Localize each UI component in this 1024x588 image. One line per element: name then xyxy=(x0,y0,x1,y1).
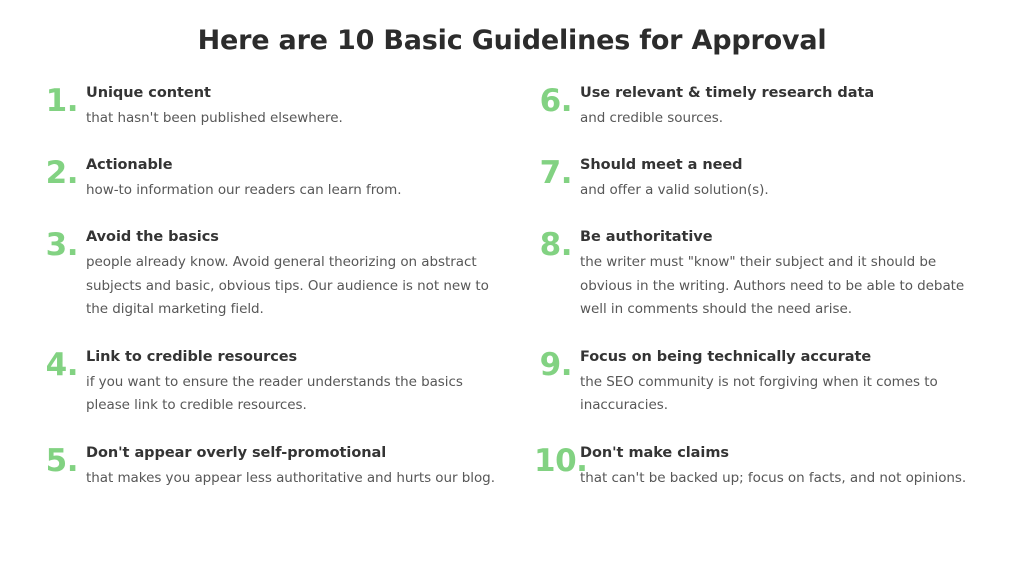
guideline-heading-8: Be authoritative xyxy=(580,228,984,247)
guideline-heading-2: Actionable xyxy=(86,156,510,175)
guideline-number-8: 8. xyxy=(534,230,580,261)
guideline-number-10: 10. xyxy=(534,446,580,477)
guidelines-columns: 1. Unique content that hasn't been publi… xyxy=(0,84,1024,490)
guideline-item-5: 5. Don't appear overly self-promotional … xyxy=(40,444,510,491)
guideline-body-2: Actionable how-to information our reader… xyxy=(86,156,510,203)
guideline-item-4: 4. Link to credible resources if you wan… xyxy=(40,348,510,418)
guideline-description-2: how-to information our readers can learn… xyxy=(86,179,510,203)
guideline-body-3: Avoid the basics people already know. Av… xyxy=(86,228,510,322)
guideline-body-5: Don't appear overly self-promotional tha… xyxy=(86,444,510,491)
guideline-number-9: 9. xyxy=(534,350,580,381)
guideline-heading-5: Don't appear overly self-promotional xyxy=(86,444,510,463)
guideline-body-1: Unique content that hasn't been publishe… xyxy=(86,84,510,131)
guideline-number-4: 4. xyxy=(40,350,86,381)
guideline-description-7: and offer a valid solution(s). xyxy=(580,179,984,203)
page-title: Here are 10 Basic Guidelines for Approva… xyxy=(0,0,1024,58)
guidelines-column-right: 6. Use relevant & timely research data a… xyxy=(510,84,984,490)
guideline-description-1: that hasn't been published elsewhere. xyxy=(86,107,510,131)
guideline-item-9: 9. Focus on being technically accurate t… xyxy=(534,348,984,418)
guideline-item-10: 10. Don't make claims that can't be back… xyxy=(534,444,984,491)
guideline-item-3: 3. Avoid the basics people already know.… xyxy=(40,228,510,322)
guideline-body-10: Don't make claims that can't be backed u… xyxy=(580,444,984,491)
guideline-body-6: Use relevant & timely research data and … xyxy=(580,84,984,131)
guideline-number-1: 1. xyxy=(40,86,86,117)
guideline-number-5: 5. xyxy=(40,446,86,477)
guideline-description-5: that makes you appear less authoritative… xyxy=(86,467,510,491)
guideline-heading-3: Avoid the basics xyxy=(86,228,510,247)
guideline-heading-1: Unique content xyxy=(86,84,510,103)
guideline-item-7: 7. Should meet a need and offer a valid … xyxy=(534,156,984,203)
guideline-number-7: 7. xyxy=(534,158,580,189)
guideline-number-2: 2. xyxy=(40,158,86,189)
guideline-heading-9: Focus on being technically accurate xyxy=(580,348,984,367)
guideline-item-1: 1. Unique content that hasn't been publi… xyxy=(40,84,510,131)
guideline-body-8: Be authoritative the writer must "know" … xyxy=(580,228,984,322)
guideline-body-7: Should meet a need and offer a valid sol… xyxy=(580,156,984,203)
guideline-item-2: 2. Actionable how-to information our rea… xyxy=(40,156,510,203)
guideline-body-4: Link to credible resources if you want t… xyxy=(86,348,510,418)
guideline-body-9: Focus on being technically accurate the … xyxy=(580,348,984,418)
guideline-heading-4: Link to credible resources xyxy=(86,348,510,367)
guidelines-column-left: 1. Unique content that hasn't been publi… xyxy=(40,84,510,490)
guideline-description-8: the writer must "know" their subject and… xyxy=(580,251,984,322)
guideline-heading-7: Should meet a need xyxy=(580,156,984,175)
guidelines-page: Here are 10 Basic Guidelines for Approva… xyxy=(0,0,1024,588)
guideline-number-6: 6. xyxy=(534,86,580,117)
guideline-heading-6: Use relevant & timely research data xyxy=(580,84,984,103)
guideline-description-3: people already know. Avoid general theor… xyxy=(86,251,510,322)
guideline-heading-10: Don't make claims xyxy=(580,444,984,463)
guideline-description-6: and credible sources. xyxy=(580,107,984,131)
guideline-number-3: 3. xyxy=(40,230,86,261)
guideline-description-9: the SEO community is not forgiving when … xyxy=(580,371,984,418)
guideline-item-6: 6. Use relevant & timely research data a… xyxy=(534,84,984,131)
guideline-description-10: that can't be backed up; focus on facts,… xyxy=(580,467,984,491)
guideline-description-4: if you want to ensure the reader underst… xyxy=(86,371,510,418)
guideline-item-8: 8. Be authoritative the writer must "kno… xyxy=(534,228,984,322)
